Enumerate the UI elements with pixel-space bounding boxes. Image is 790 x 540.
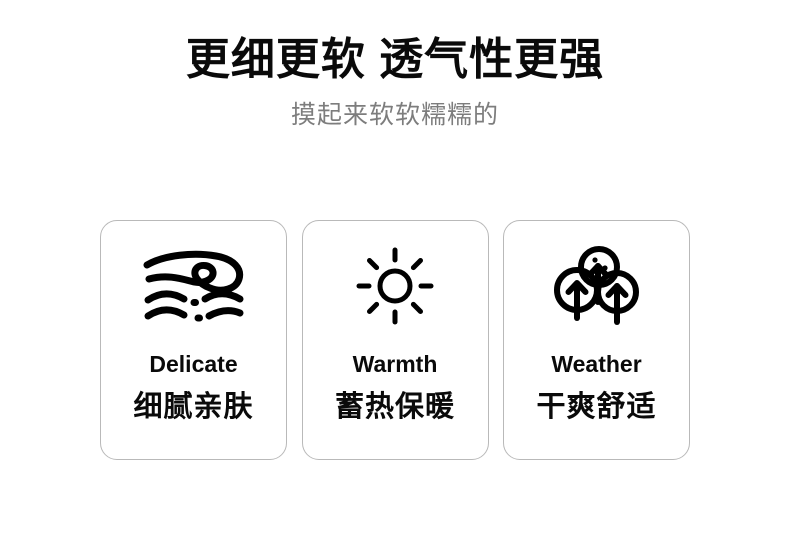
feature-card-weather[interactable]: Weather 干爽舒适 bbox=[503, 220, 690, 460]
breathable-cloud-arrows-icon bbox=[504, 221, 689, 351]
feature-label-en: Warmth bbox=[353, 351, 438, 378]
feature-label-cn: 干爽舒适 bbox=[536, 390, 656, 424]
page-subtitle: 摸起来软软糯糯的 bbox=[0, 100, 790, 130]
heading-block: 更细更软 透气性更强 摸起来软软糯糯的 bbox=[0, 34, 790, 130]
feature-banner: 更细更软 透气性更强 摸起来软软糯糯的 Delicate bbox=[0, 0, 790, 540]
feature-label-cn: 蓄热保暖 bbox=[335, 390, 455, 424]
feature-label-en: Weather bbox=[551, 351, 641, 378]
sun-icon bbox=[303, 221, 488, 351]
feature-card-warmth[interactable]: Warmth 蓄热保暖 bbox=[302, 220, 489, 460]
page-title: 更细更软 透气性更强 bbox=[0, 34, 790, 86]
soft-fabric-wave-icon bbox=[101, 221, 286, 351]
feature-label-cn: 细腻亲肤 bbox=[133, 390, 253, 424]
feature-card-list: Delicate 细腻亲肤 Warmth 蓄热保暖 bbox=[100, 220, 690, 460]
feature-label-en: Delicate bbox=[149, 351, 237, 378]
feature-card-delicate[interactable]: Delicate 细腻亲肤 bbox=[100, 220, 287, 460]
